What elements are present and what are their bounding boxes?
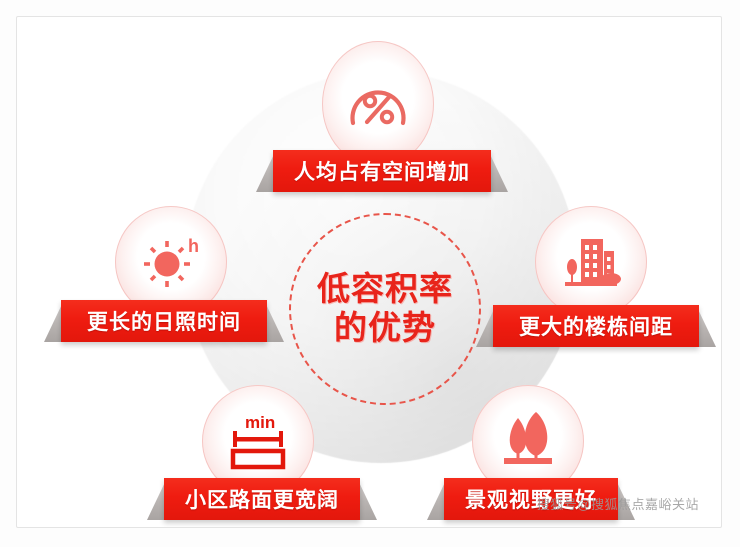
ribbon-right: 更大的楼栋间距	[493, 305, 699, 347]
label-text-left: 更长的日照时间	[87, 306, 241, 336]
buildings-icon	[559, 231, 623, 293]
infographic-stage: 低容积率 的优势 人均占有空间增加	[0, 0, 740, 547]
road-width-min-icon-text: min	[245, 413, 275, 432]
label-text-right: 更大的楼栋间距	[519, 311, 673, 341]
percent-gauge-icon	[347, 75, 409, 133]
label-plate-top[interactable]: 人均占有空间增加	[273, 150, 491, 192]
sun-hours-icon-text: h	[188, 236, 199, 256]
center-title-line1: 低容积率	[317, 270, 453, 309]
bubble-top[interactable]	[322, 41, 434, 167]
label-text-top: 人均占有空间增加	[294, 156, 470, 186]
center-title-line2: 的优势	[334, 309, 436, 348]
ribbon-left: 更长的日照时间	[61, 300, 267, 342]
ribbon-bottom-left: 小区路面更宽阔	[164, 478, 360, 520]
ribbon-top: 人均占有空间增加	[273, 150, 491, 192]
label-plate-left[interactable]: 更长的日照时间	[61, 300, 267, 342]
trees-view-icon	[496, 410, 560, 472]
watermark: 搜狐号@搜狐焦点嘉峪关站	[537, 494, 699, 513]
ribbon-wing-right	[696, 305, 716, 347]
infographic-card: 低容积率 的优势 人均占有空间增加	[16, 16, 722, 528]
label-text-bottom-left: 小区路面更宽阔	[185, 484, 339, 514]
road-width-min-icon: min	[223, 409, 293, 473]
center-title: 低容积率 的优势	[289, 213, 481, 405]
bubble-right[interactable]	[535, 206, 647, 318]
ribbon-wing-right	[357, 478, 377, 520]
label-plate-bottom-left[interactable]: 小区路面更宽阔	[164, 478, 360, 520]
sun-hours-icon: h	[138, 232, 204, 292]
label-plate-right[interactable]: 更大的楼栋间距	[493, 305, 699, 347]
